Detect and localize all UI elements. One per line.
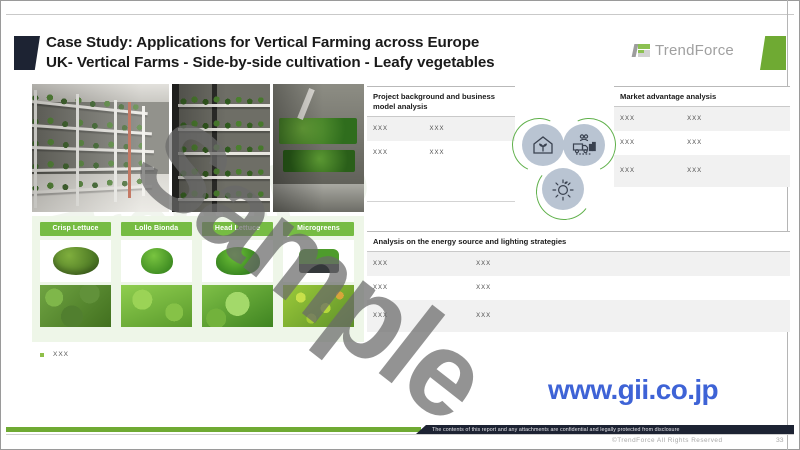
vegetable-card: Microgreens xyxy=(283,222,354,327)
cell-col2: XXX xyxy=(683,155,790,187)
microgreens-hero xyxy=(283,240,354,282)
panel-market-advantage: Market advantage analysis XXX XXX XXX XX… xyxy=(614,86,790,187)
table-row: XXX XXX xyxy=(367,117,515,141)
head-lettuce-closeup xyxy=(202,285,273,327)
frame-border-left xyxy=(0,0,1,450)
cell-col2: XXX xyxy=(683,107,790,131)
cell-col2: XXX xyxy=(472,252,790,276)
frame-border-top xyxy=(0,0,800,1)
vegetable-card: Crisp Lettuce xyxy=(40,222,111,327)
supply-chain-truck-icon xyxy=(563,124,605,166)
cell-col1: XXX xyxy=(367,252,472,276)
title-line-2: UK- Vertical Farms - Side-by-side cultiv… xyxy=(46,53,606,73)
vegetable-card: Head Lettuce xyxy=(202,222,273,327)
table-row: XXX XXX xyxy=(614,155,790,187)
bullet-text: XXX xyxy=(53,351,69,358)
panel-market-title: Market advantage analysis xyxy=(614,87,790,107)
table-row: XXX XXX xyxy=(367,252,790,276)
footer-green-bar xyxy=(6,427,421,432)
green-accent-shape xyxy=(760,36,786,70)
panel-energy-lighting: Analysis on the energy source and lighti… xyxy=(367,231,790,332)
vegetable-label: Head Lettuce xyxy=(202,222,273,236)
title-line-1: Case Study: Applications for Vertical Fa… xyxy=(46,33,606,53)
gii-url-link[interactable]: www.gii.co.jp xyxy=(548,374,718,406)
photo-strip xyxy=(32,84,364,212)
header-rule xyxy=(6,14,794,15)
head-lettuce-hero xyxy=(202,240,273,282)
footer-confidentiality-bar: The contents of this report and any atta… xyxy=(416,425,794,434)
confidentiality-text: The contents of this report and any atta… xyxy=(432,427,680,433)
cell-col1: XXX xyxy=(614,131,683,155)
table-row: XXX XXX xyxy=(367,141,515,165)
cell-col2: XXX xyxy=(425,141,515,165)
cell-col2: XXX xyxy=(472,276,790,300)
table-row: XXX XXX xyxy=(614,107,790,131)
vegetable-label: Microgreens xyxy=(283,222,354,236)
icon-cluster xyxy=(508,112,616,220)
cell-col2: XXX xyxy=(472,300,790,332)
cell-col2: XXX xyxy=(683,131,790,155)
brand-name: TrendForce xyxy=(655,42,734,59)
table-row: XXX XXX xyxy=(614,131,790,155)
greenhouse-plant-icon xyxy=(522,124,564,166)
cell-col2: XXX xyxy=(425,117,515,141)
photo-vertical-farm-rack-rows xyxy=(172,84,270,212)
cell-col1: XXX xyxy=(367,141,425,165)
lollo-bionda-closeup xyxy=(121,285,192,327)
cell-col1: XXX xyxy=(367,276,472,300)
sun-lighting-icon xyxy=(542,168,584,210)
cell-col1: XXX xyxy=(614,155,683,187)
panel-project-background: Project background and business model an… xyxy=(367,86,515,202)
cell-col1: XXX xyxy=(614,107,683,131)
page-number: 33 xyxy=(776,437,784,444)
bullet-square-icon xyxy=(40,353,44,357)
table-row: XXX XXX xyxy=(367,300,790,332)
trendforce-logo-icon xyxy=(633,43,650,58)
vegetable-label: Lollo Bionda xyxy=(121,222,192,236)
panel-project-title: Project background and business model an… xyxy=(367,87,515,117)
right-rule xyxy=(787,0,788,450)
lollo-bionda-hero xyxy=(121,240,192,282)
crisp-lettuce-hero xyxy=(40,240,111,282)
slide-canvas: TrendForce Case Study: Applications for … xyxy=(0,0,800,450)
panel-energy-title: Analysis on the energy source and lighti… xyxy=(367,232,790,252)
page-title: Case Study: Applications for Vertical Fa… xyxy=(46,33,606,73)
microgreens-closeup xyxy=(283,285,354,327)
bullet-item: XXX xyxy=(40,351,69,358)
cell-col1: XXX xyxy=(367,117,425,141)
copyright-text: ©TrendForce All Rights Reserved xyxy=(612,437,723,444)
footer-rule xyxy=(6,434,794,435)
table-row: XXX XXX xyxy=(367,276,790,300)
vegetable-label: Crisp Lettuce xyxy=(40,222,111,236)
crisp-lettuce-closeup xyxy=(40,285,111,327)
vegetable-card: Lollo Bionda xyxy=(121,222,192,327)
photo-vertical-farm-rack-wide xyxy=(32,84,169,212)
vegetable-grid: Crisp Lettuce Lollo Bionda Head Lettuce … xyxy=(40,222,360,327)
navy-accent-shape xyxy=(14,36,40,70)
panel-spacer xyxy=(367,165,515,201)
photo-vertical-farm-harvest xyxy=(273,84,364,212)
cell-col1: XXX xyxy=(367,300,472,332)
panel-bottom-rule xyxy=(367,201,515,202)
trendforce-logo: TrendForce xyxy=(633,42,734,59)
